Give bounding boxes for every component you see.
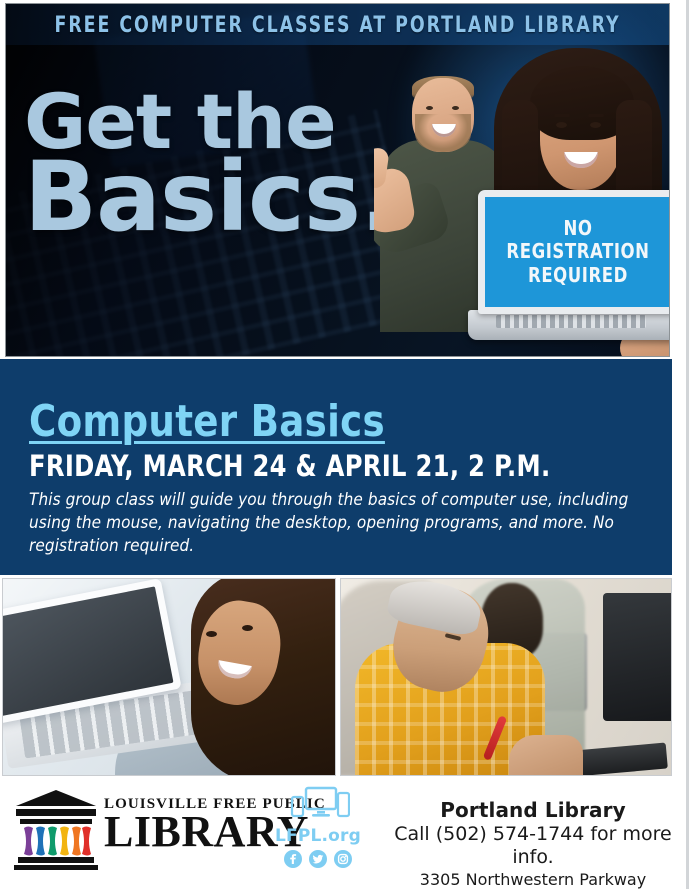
laptop-message-line2: REQUIRED [496, 264, 660, 288]
social-links [268, 850, 368, 868]
right-photo-monitor-near [603, 593, 672, 721]
woman-with-laptop-photo [2, 578, 336, 776]
man-eye-left [426, 106, 433, 110]
library-logo: LOUISVILLE FREE PUBLIC LIBRARY [8, 786, 246, 870]
branch-address: 3305 Northwestern Parkway [388, 870, 678, 890]
woman-brow-left [554, 114, 570, 117]
class-title: Computer Basics [29, 396, 385, 447]
website-url[interactable]: LFPL.org [268, 826, 368, 846]
branch-contact-info: Portland Library Call (502) 574-1744 for… [388, 798, 678, 890]
library-building-icon [12, 788, 100, 870]
man-eye-right [452, 106, 459, 110]
class-schedule: FRIDAY, MARCH 24 & APRIL 21, 2 P.M. [29, 449, 550, 483]
hero-laptop: NO REGISTRATION REQUIRED [468, 190, 670, 355]
woman-eye-right [590, 122, 601, 128]
instagram-icon[interactable] [334, 850, 352, 868]
branch-name: Portland Library [388, 798, 678, 822]
hero-kicker-text: FREE COMPUTER CLASSES AT PORTLAND LIBRAR… [46, 13, 629, 38]
woman-brow-right [588, 114, 604, 117]
laptop-keyboard [496, 315, 646, 328]
left-photo-eye-right [242, 625, 253, 631]
hero-banner: FREE COMPUTER CLASSES AT PORTLAND LIBRAR… [5, 3, 670, 357]
flyer-poster: FREE COMPUTER CLASSES AT PORTLAND LIBRAR… [0, 0, 689, 889]
website-block[interactable]: LFPL.org [268, 786, 368, 868]
man-at-computer-lab-photo [340, 578, 672, 776]
twitter-icon[interactable] [309, 850, 327, 868]
woman-eye-left [556, 122, 567, 128]
laptop-lid: NO REGISTRATION REQUIRED [478, 190, 670, 314]
hero-kicker-bar: FREE COMPUTER CLASSES AT PORTLAND LIBRAR… [6, 4, 669, 45]
laptop-message-line1: NO REGISTRATION [496, 217, 660, 264]
class-info-block: Computer Basics FRIDAY, MARCH 24 & APRIL… [0, 359, 672, 575]
left-photo-eye-left [206, 631, 217, 637]
right-photo-hand [509, 735, 583, 776]
devices-icon [286, 786, 350, 820]
branch-phone: Call (502) 574-1744 for more info. [388, 823, 678, 869]
footer: LOUISVILLE FREE PUBLIC LIBRARY LFPL.org [0, 780, 689, 889]
laptop-screen: NO REGISTRATION REQUIRED [485, 197, 670, 307]
class-description: This group class will guide you through … [29, 489, 633, 558]
no-registration-message: NO REGISTRATION REQUIRED [492, 217, 663, 288]
photo-strip [0, 578, 672, 776]
facebook-icon[interactable] [284, 850, 302, 868]
